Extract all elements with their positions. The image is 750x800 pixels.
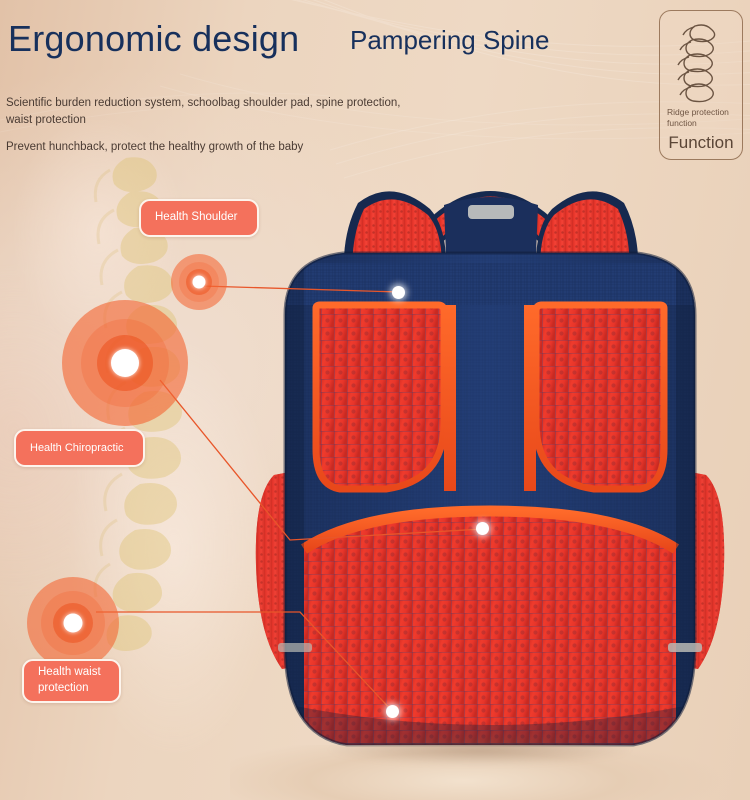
product-shadow	[260, 727, 700, 773]
handle-tab	[468, 205, 514, 219]
marker-chiropractic[interactable]	[62, 300, 188, 426]
product-image	[230, 145, 750, 800]
marker-core	[193, 276, 206, 289]
callout-label-shoulder[interactable]: Health Shoulder	[139, 199, 259, 237]
callout-label-chiropractic[interactable]: Health Chiropractic	[14, 429, 145, 467]
callout-label-shoulder-text: Health Shoulder	[155, 210, 237, 226]
function-badge: Ridge protection function Function	[659, 10, 743, 160]
function-caption: Ridge protection function	[667, 107, 739, 129]
hotspot-shoulder[interactable]	[392, 286, 405, 299]
page-title: Ergonomic design	[8, 18, 299, 60]
spine-vertebrae-icon	[673, 21, 729, 107]
marker-waist[interactable]	[27, 577, 119, 669]
upper-panel-left	[316, 305, 444, 489]
buckle-right	[668, 643, 702, 652]
upper-panel-right	[536, 305, 664, 489]
infographic-page: Ergonomic design Pampering Spine Scienti…	[0, 0, 750, 800]
hotspot-waist[interactable]	[386, 705, 399, 718]
description-line-1: Scientific burden reduction system, scho…	[6, 95, 426, 128]
buckle-left	[278, 643, 312, 652]
marker-core	[64, 614, 83, 633]
header: Ergonomic design Pampering Spine Scienti…	[0, 0, 750, 160]
marker-core	[111, 349, 139, 377]
marker-shoulder[interactable]	[171, 254, 227, 310]
callout-label-waist-text: Health waist protection	[38, 665, 105, 696]
hotspot-chiropractic[interactable]	[476, 522, 489, 535]
page-subtitle: Pampering Spine	[350, 25, 549, 56]
spine-strip-right	[524, 305, 536, 491]
callout-label-waist[interactable]: Health waist protection	[22, 659, 121, 703]
backpack-illustration	[230, 145, 750, 800]
callout-label-chiropractic-text: Health Chiropractic	[30, 441, 124, 456]
spine-strip-left	[444, 305, 456, 491]
